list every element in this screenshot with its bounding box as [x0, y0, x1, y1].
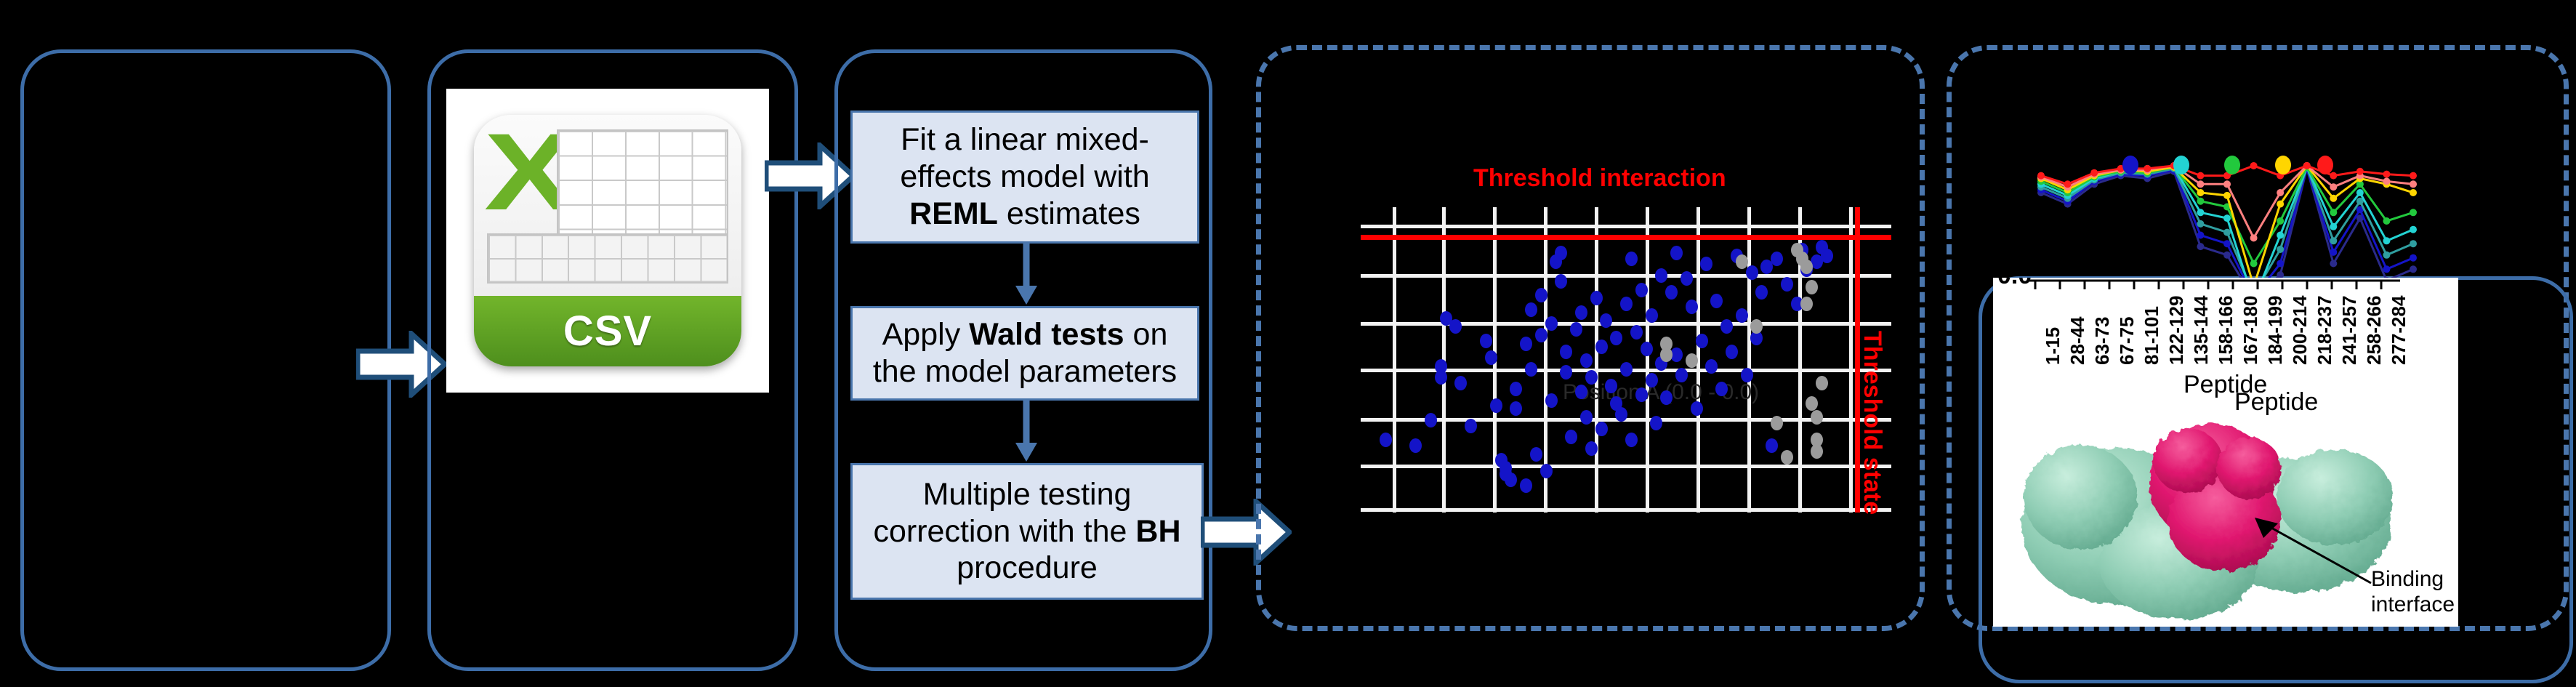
scatter-plot-area: Position A (0.0 - 0.0) — [1361, 207, 1891, 513]
scatter-point — [1590, 291, 1603, 305]
scatter-point — [1535, 328, 1547, 342]
scatter-point — [1520, 337, 1532, 351]
multiple-testing-box[interactable]: Multiple testing correction with the BH … — [850, 463, 1204, 600]
scatter-point — [1816, 376, 1828, 390]
peptide-tick-label: 200-214 — [2289, 296, 2311, 365]
scatter-point — [1575, 385, 1587, 399]
line-point — [2250, 260, 2258, 268]
scatter-point — [1665, 285, 1678, 300]
scatter-point — [1741, 368, 1753, 382]
line-point — [2383, 265, 2390, 273]
scatter-point — [1625, 433, 1638, 447]
scatter-point — [1560, 365, 1572, 379]
bh-text-b: procedure — [957, 550, 1098, 585]
peptide-tick-label: 184-199 — [2264, 296, 2287, 365]
fit-model-box[interactable]: Fit a linear mixed-effects model with RE… — [850, 111, 1199, 244]
scatter-point — [1696, 334, 1708, 348]
line-chart-legend — [2006, 156, 2508, 185]
line-point — [2410, 189, 2417, 196]
legend-dot — [2173, 156, 2189, 174]
line-point — [2223, 229, 2231, 236]
scatter-point — [1465, 419, 1477, 433]
wald-text-bold: Wald tests — [969, 317, 1124, 352]
wald-text-a: Apply — [882, 317, 970, 352]
line-point — [2330, 249, 2337, 256]
scatter-point — [1646, 308, 1658, 323]
scatter-point — [1545, 393, 1558, 408]
threshold-state-label: Threshold state — [1858, 331, 1886, 515]
scatter-point — [1490, 398, 1502, 413]
scatter-point — [1781, 450, 1793, 465]
scatter-point — [1565, 430, 1577, 444]
scatter-point — [1425, 413, 1437, 427]
scatter-point — [1449, 319, 1462, 334]
scatter-point — [1585, 370, 1598, 385]
scatter-point — [1454, 376, 1467, 390]
scatter-point — [1750, 319, 1763, 334]
line-point — [2410, 254, 2417, 262]
peptide-tick-label: 28-44 — [2066, 317, 2089, 366]
line-point — [2330, 223, 2337, 230]
line-point — [2197, 243, 2204, 250]
scatter-point — [1736, 254, 1748, 269]
binding-interface-label: Binding interface — [2371, 567, 2455, 617]
csv-format-band: CSV — [474, 296, 742, 366]
scatter-point — [1630, 325, 1643, 340]
peptide-tick-label: 167-180 — [2239, 296, 2262, 365]
scatter-point — [1771, 252, 1783, 266]
line-point — [2277, 189, 2284, 196]
scatter-point — [1720, 319, 1733, 334]
scatter-point — [1691, 401, 1703, 416]
scatter-point — [1726, 345, 1738, 359]
scatter-point — [1435, 370, 1447, 385]
scatter-point — [1620, 297, 1633, 311]
scatter-point — [1681, 271, 1693, 286]
csv-file-card: X CSV — [446, 89, 769, 393]
peptide-tick-label: 158-166 — [2215, 296, 2237, 365]
csv-format-label: CSV — [563, 307, 652, 355]
scatter-point — [1781, 277, 1793, 292]
line-point — [2223, 214, 2231, 222]
panel-input — [20, 49, 391, 671]
scatter-point — [1710, 294, 1723, 308]
peptide-tick-label: 81-101 — [2141, 306, 2163, 365]
protein-structure-card: 0.0 1-1528-4463-7367-75 — [1993, 278, 2458, 627]
scatter-point — [1806, 396, 1818, 411]
fit-model-text-reml: REML — [909, 196, 998, 231]
line-point — [2356, 189, 2364, 196]
scatter-point — [1525, 362, 1537, 377]
scatter-point — [1600, 313, 1612, 328]
threshold-interaction-label: Threshold interaction — [1473, 164, 1726, 193]
scatter-point — [1771, 416, 1783, 430]
threshold-interaction-line — [1361, 235, 1891, 240]
fit-model-text-a: Fit a linear mixed-effects model with — [900, 122, 1149, 194]
connector-wald-to-bh — [1013, 401, 1039, 467]
scatter-point — [1525, 302, 1537, 317]
scatter-point — [1485, 350, 1497, 365]
scatter-point — [1595, 422, 1608, 436]
peptide-tick-labels: 1-1528-4463-7367-7581-101122-129135-1441… — [1993, 278, 2458, 379]
line-point — [2223, 240, 2231, 247]
scatter-point — [1675, 368, 1688, 382]
scatter-point — [1755, 285, 1768, 300]
line-point — [2410, 226, 2417, 233]
line-point — [2410, 240, 2417, 247]
scatter-point — [1575, 305, 1587, 320]
line-point — [2383, 237, 2390, 244]
fit-model-text-b: estimates — [998, 196, 1140, 231]
peptide-tick-label: 67-75 — [2116, 317, 2138, 366]
line-point — [2330, 260, 2337, 268]
scatter-point — [1715, 382, 1728, 396]
scatter-points-layer — [1361, 207, 1891, 513]
workflow-diagram: X CSV Fit a linear mixed-effects model w… — [0, 0, 2576, 687]
scatter-point — [1705, 359, 1718, 374]
line-point — [2277, 201, 2284, 208]
peptide-tick-label: 1-15 — [2042, 327, 2064, 365]
line-point — [2330, 209, 2337, 216]
scatter-point — [1610, 331, 1622, 345]
line-point — [2277, 246, 2284, 253]
bh-text-bold: BH — [1135, 514, 1180, 549]
scatter-point — [1585, 441, 1598, 456]
scatter-point — [1635, 387, 1648, 402]
legend-dot — [2122, 156, 2138, 174]
line-point — [2410, 265, 2417, 273]
scatter-point — [1766, 438, 1778, 453]
scatter-point — [1686, 353, 1698, 368]
scatter-point — [1800, 297, 1813, 311]
peptide-tick-label: 122-129 — [2165, 296, 2188, 365]
line-point — [2277, 232, 2284, 239]
scatter-point — [1570, 322, 1582, 337]
csv-file-icon: X CSV — [474, 115, 742, 367]
peptide-tick-label: 277-284 — [2388, 296, 2410, 365]
scatter-point — [1380, 433, 1392, 447]
line-point — [2330, 237, 2337, 244]
legend-dot — [2275, 156, 2291, 174]
line-point — [2383, 217, 2390, 225]
peptide-tick-label: 218-237 — [2314, 296, 2336, 365]
scatter-point — [1505, 473, 1517, 487]
line-point — [2197, 189, 2204, 196]
scatter-point — [1560, 345, 1572, 359]
scatter-point — [1686, 300, 1698, 314]
line-point — [2197, 220, 2204, 228]
legend-dot — [2224, 156, 2240, 174]
binding-label-line1: Binding — [2371, 567, 2455, 592]
line-point — [2250, 234, 2258, 241]
scatter-point — [1595, 340, 1608, 354]
connector-fit-to-wald — [1013, 244, 1039, 310]
threshold-scatter-plot: Position A (0.0 - 0.0) — [1361, 207, 1891, 513]
bh-text-a: Multiple testing correction with the — [874, 477, 1136, 549]
scatter-point — [1806, 280, 1818, 294]
scatter-point — [1510, 401, 1522, 416]
binding-label-line2: interface — [2371, 592, 2455, 618]
scatter-point — [1620, 362, 1633, 377]
scatter-point — [1650, 416, 1662, 430]
peptide-structure-label: Peptide — [2234, 388, 2318, 417]
scatter-point — [1811, 410, 1823, 425]
peptide-tick-label: 63-73 — [2091, 317, 2114, 366]
line-point — [2383, 252, 2390, 259]
scatter-point — [1535, 288, 1547, 302]
scatter-point — [1821, 249, 1833, 263]
line-point — [2197, 198, 2204, 205]
line-point — [2410, 209, 2417, 216]
line-point — [2330, 195, 2337, 202]
scatter-point — [1409, 438, 1422, 453]
scatter-point — [1660, 390, 1673, 405]
scatter-point — [1746, 265, 1758, 280]
line-point — [2277, 260, 2284, 268]
legend-dot — [2317, 156, 2333, 174]
scatter-point — [1580, 410, 1593, 425]
scatter-point — [1555, 246, 1567, 260]
scatter-point — [1625, 252, 1638, 266]
scatter-point — [1635, 283, 1648, 297]
scatter-point — [1510, 382, 1522, 396]
scatter-point — [1480, 334, 1492, 348]
line-point — [2197, 232, 2204, 239]
peptide-tick-label: 258-266 — [2363, 296, 2386, 365]
scatter-point — [1670, 246, 1683, 260]
scatter-point — [1646, 373, 1658, 387]
scatter-point — [1615, 407, 1627, 422]
spreadsheet-grid-secondary — [487, 233, 728, 284]
scatter-point — [1641, 342, 1653, 356]
scatter-point — [1655, 268, 1667, 283]
scatter-point — [1520, 478, 1532, 493]
scatter-point — [1555, 274, 1567, 289]
line-point — [2223, 192, 2231, 199]
scatter-point — [1545, 316, 1558, 331]
scatter-point — [1530, 447, 1542, 462]
scatter-point — [1700, 257, 1712, 271]
line-point — [2277, 217, 2284, 225]
scatter-point — [1580, 353, 1593, 368]
peptide-tick-label: 135-144 — [2190, 296, 2213, 365]
scatter-point — [1811, 444, 1823, 459]
wald-tests-box[interactable]: Apply Wald tests on the model parameters — [850, 306, 1199, 401]
scatter-point — [1605, 379, 1617, 393]
scatter-point — [1736, 308, 1748, 323]
scatter-point — [1660, 347, 1673, 362]
peptide-tick-label: 241-257 — [2338, 296, 2361, 365]
scatter-point — [1540, 464, 1553, 478]
line-point — [2223, 252, 2231, 259]
line-point — [2197, 209, 2204, 216]
